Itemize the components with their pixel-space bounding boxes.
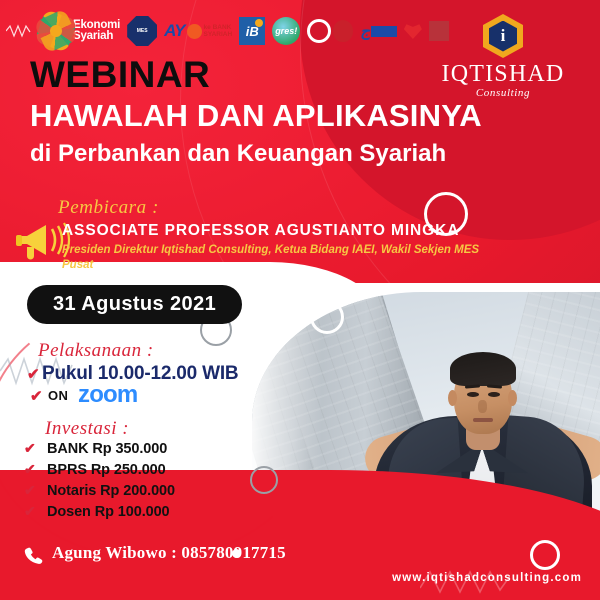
investment-item-label: Notaris Rp 200.000 — [47, 483, 175, 499]
portrait-eye-left — [467, 392, 479, 397]
portrait-eye-right — [488, 392, 500, 397]
page-subtitle: di Perbankan dan Keuangan Syariah — [30, 140, 446, 168]
contact-info: Agung Wibowo : 085780917715 — [52, 543, 286, 563]
date-badge: 31 Agustus 2021 — [27, 285, 242, 324]
speaker-name: ASSOCIATE PROFESSOR AGUSTIANTO MINGKA — [62, 222, 459, 240]
sponsor-logo-badge: MES — [127, 11, 157, 51]
decorative-ring-white-2 — [310, 300, 344, 334]
gres-globe-icon: gres! — [272, 17, 300, 45]
zoom-logo: zoom — [78, 381, 137, 409]
investment-item-label: BPRS Rp 250.000 — [47, 462, 166, 478]
ayo-sublabel: ke BANK SYARIAH — [204, 24, 233, 38]
investment-item-label: Dosen Rp 100.000 — [47, 504, 170, 520]
check-icon: ✔ — [24, 461, 38, 478]
decorative-ring-white-3 — [530, 540, 560, 570]
wave-icon — [6, 24, 32, 38]
sponsor-logo-heart — [404, 11, 422, 51]
schedule-check-platform-icon: ✔ — [30, 387, 43, 405]
red-ring-icon — [307, 19, 331, 43]
check-icon: ✔ — [24, 482, 38, 499]
speaker-label: Pembicara : — [58, 197, 159, 219]
ib-icon: iB — [239, 17, 265, 45]
schedule-check-time-icon: ✔ — [27, 365, 40, 383]
portrait-mouth — [473, 418, 493, 422]
page-title: HAWALAH DAN APLIKASINYA — [30, 99, 482, 133]
list-item: ✔ Dosen Rp 100.000 — [24, 501, 264, 522]
list-item: ✔ Notaris Rp 200.000 — [24, 480, 264, 501]
investment-label: Investasi : — [45, 418, 129, 440]
ekonomi-syariah-star-icon — [39, 14, 73, 48]
octagon-badge-icon: MES — [127, 16, 157, 46]
iqtishad-logo: i IQTISHAD Consulting — [428, 14, 578, 99]
portrait-ear-left — [448, 390, 457, 406]
sponsor-logo-gres: gres! — [272, 11, 300, 51]
schedule-time: Pukul 10.00-12.00 WIB — [42, 363, 238, 385]
sponsor-logos-row: Ekonomi Syariah MES AY ke BANK SYARIAH i… — [6, 9, 449, 53]
phone-icon — [24, 546, 43, 565]
arabic-script-icon: ج — [360, 22, 370, 40]
portrait-ear-right — [508, 390, 517, 406]
investment-item-label: BANK Rp 350.000 — [47, 441, 167, 457]
eyebrow-webinar: WEBINAR — [30, 56, 210, 94]
portrait-hair — [450, 352, 516, 386]
iqtishad-wordmark: IQTISHAD — [428, 62, 578, 86]
investment-list: ✔ BANK Rp 350.000 ✔ BPRS Rp 250.000 ✔ No… — [24, 438, 264, 522]
sponsor-logo-ekonomi-syariah: Ekonomi Syariah — [39, 11, 120, 51]
ekonomi-syariah-label: Ekonomi Syariah — [73, 20, 120, 43]
sponsor-logo-arabic-script: ج — [360, 11, 397, 51]
heart-icon — [404, 23, 422, 39]
arabic-script-bar — [371, 26, 397, 37]
portrait-nose — [478, 400, 487, 413]
iqtishad-hex-icon: i — [483, 14, 523, 58]
sponsor-logo-ring-apple — [307, 11, 353, 51]
ib-sun-icon — [255, 19, 263, 27]
webinar-poster: Ekonomi Syariah MES AY ke BANK SYARIAH i… — [0, 0, 600, 600]
ayo-orange-dot-icon — [187, 24, 202, 39]
schedule-label: Pelaksanaan : — [38, 340, 154, 362]
check-icon: ✔ — [24, 503, 38, 520]
sponsor-logo-ib: iB — [239, 11, 265, 51]
list-item: ✔ BANK Rp 350.000 — [24, 438, 264, 459]
speaker-role: Presiden Direktur Iqtishad Consulting, K… — [62, 243, 492, 273]
sponsor-logo-ayo-bank-syariah: AY ke BANK SYARIAH — [164, 11, 232, 51]
platform-prefix: ON — [48, 388, 68, 403]
apple-red-icon — [333, 20, 353, 42]
check-icon: ✔ — [24, 440, 38, 457]
list-item: ✔ BPRS Rp 250.000 — [24, 459, 264, 480]
website-url: www.iqtishadconsulting.com — [392, 572, 582, 584]
